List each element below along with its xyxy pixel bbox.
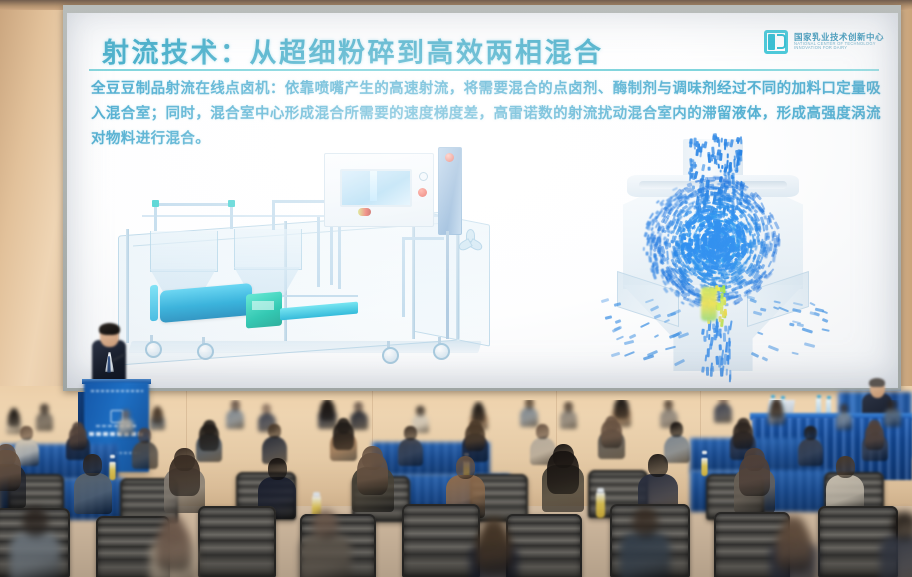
velocity-vector <box>802 327 813 333</box>
audience-chair <box>198 506 276 577</box>
velocity-vector <box>724 139 727 146</box>
velocity-vector <box>804 343 815 348</box>
velocity-vector <box>683 242 687 245</box>
audience-hair <box>739 455 770 496</box>
audience-torso <box>560 410 577 428</box>
velocity-vector <box>822 318 829 323</box>
velocity-vector <box>624 351 635 357</box>
velocity-vector <box>737 239 740 242</box>
audience-hair <box>199 424 219 451</box>
drink-bottle <box>109 462 115 480</box>
presentation-slide: 射流技术：从超细粉碎到高效两相混合 国家乳业技术创新中心 NATIONAL CE… <box>67 13 898 388</box>
audience-hair <box>601 420 621 448</box>
wall-panel-left <box>0 0 66 392</box>
drink-bottle <box>596 492 605 518</box>
velocity-vector <box>691 173 694 178</box>
dairy-innovation-logo-icon <box>764 30 788 54</box>
velocity-vector <box>673 247 677 256</box>
audience-torso <box>714 403 732 423</box>
valve-1 <box>152 200 159 207</box>
velocity-vector <box>720 287 723 292</box>
audience-hair <box>156 524 191 572</box>
velocity-vector <box>792 351 799 355</box>
velocity-vector <box>629 334 636 339</box>
velocity-vector <box>715 356 718 365</box>
audience-hair <box>169 455 200 496</box>
velocity-vector <box>713 324 716 330</box>
audience-area <box>0 400 912 577</box>
velocity-vector <box>744 236 747 242</box>
velocity-vector <box>703 336 706 342</box>
caster-wheel <box>382 347 399 364</box>
velocity-vector <box>718 153 722 161</box>
audience-hair <box>320 401 334 420</box>
audience-torso <box>118 418 134 436</box>
audience-head <box>648 454 668 477</box>
bottle-cap <box>597 488 604 493</box>
audience-head <box>83 454 102 476</box>
velocity-vector <box>731 173 735 179</box>
velocity-vector <box>760 307 767 311</box>
bottle-cap <box>313 492 320 497</box>
velocity-vector <box>821 310 827 314</box>
speaker-hair <box>99 323 120 335</box>
caster-wheel <box>197 343 214 360</box>
velocity-vector <box>725 180 731 184</box>
audience-head <box>138 428 151 443</box>
audience-hair <box>152 408 163 423</box>
audience-head <box>525 400 534 409</box>
audience-head <box>268 458 287 480</box>
audience-torso <box>620 533 670 577</box>
audience-hair <box>0 450 21 490</box>
velocity-vector <box>716 258 720 262</box>
velocity-vector <box>695 141 698 148</box>
audience-head <box>670 422 683 437</box>
velocity-vector <box>711 192 715 195</box>
audience-hair <box>69 426 87 450</box>
velocity-vector <box>797 323 804 327</box>
signal-tower-light <box>445 153 454 162</box>
velocity-vector <box>774 248 778 254</box>
audience-head <box>122 410 130 419</box>
machine-render-figure <box>112 145 512 377</box>
audience-torso <box>880 536 912 577</box>
velocity-vector <box>739 136 742 144</box>
velocity-vector <box>616 336 624 341</box>
velocity-vector <box>702 179 706 182</box>
audience-torso <box>132 441 158 469</box>
audience-head <box>536 424 549 439</box>
audience-hair <box>547 451 579 494</box>
velocity-vector <box>623 340 634 345</box>
velocity-vector <box>729 374 732 382</box>
bottle-cap <box>110 455 115 459</box>
audience-torso <box>74 473 112 514</box>
audience-torso <box>36 412 53 430</box>
velocity-vector <box>778 233 780 241</box>
conference-photo-scene: 射流技术：从超细粉碎到高效两相混合 国家乳业技术创新中心 NATIONAL CE… <box>0 0 912 577</box>
audience-hair <box>333 422 353 450</box>
audience-head <box>804 426 816 440</box>
velocity-vector <box>788 323 794 327</box>
audience-torso <box>300 535 351 577</box>
audience-hair <box>776 524 812 573</box>
title-divider <box>89 69 879 71</box>
logo-name-en-2: INNOVATION FOR DAIRY <box>794 46 884 50</box>
velocity-vector <box>724 308 727 315</box>
cfd-simulation-figure <box>567 131 857 379</box>
audience-torso <box>836 412 852 430</box>
velocity-vector <box>653 334 659 338</box>
velocity-vector <box>643 354 654 360</box>
audience-torso <box>398 438 423 465</box>
audience-hair <box>770 401 783 418</box>
audience-head <box>23 508 48 537</box>
velocity-vector <box>711 147 715 155</box>
audience-head <box>231 400 240 411</box>
audience-head <box>564 402 572 412</box>
audience-head <box>888 400 896 410</box>
velocity-vector <box>640 322 650 328</box>
audience-torso <box>10 533 60 577</box>
velocity-vector <box>601 298 610 303</box>
velocity-vector <box>695 242 699 249</box>
audience-head <box>404 426 416 440</box>
velocity-vector <box>762 357 768 362</box>
velocity-vector <box>727 142 731 146</box>
audience-hair <box>357 453 388 495</box>
velocity-vector <box>714 211 717 214</box>
audience-chair <box>402 504 480 577</box>
velocity-vector <box>810 302 816 306</box>
body-line-1: 全豆豆制品射流在线点卤机：依靠喷嘴产生的高速射流，将需要混合的点卤剂、酶制剂与调… <box>91 81 792 97</box>
audience-head <box>40 404 48 414</box>
audience-head <box>354 402 363 412</box>
velocity-vector <box>701 367 705 373</box>
velocity-vector <box>765 225 768 231</box>
selector-knob <box>419 172 428 181</box>
projection-screen: 射流技术：从超细粉碎到高效两相混合 国家乳业技术创新中心 NATIONAL CE… <box>67 13 898 388</box>
audience-torso <box>520 407 538 427</box>
caster-wheel <box>433 343 450 360</box>
audience-torso <box>226 409 244 429</box>
velocity-vector <box>822 328 830 332</box>
velocity-vector <box>713 133 718 142</box>
audience-head <box>836 456 855 478</box>
organization-logo: 国家乳业技术创新中心 NATIONAL CENTER OF TECHNOLOGY… <box>764 30 884 54</box>
audience-head <box>664 400 673 410</box>
audience-head <box>892 512 912 540</box>
valve-2 <box>228 200 235 207</box>
emergency-stop-button <box>418 188 427 197</box>
velocity-vector <box>728 349 730 360</box>
audience-head <box>20 426 32 440</box>
velocity-vector <box>719 316 722 322</box>
velocity-vector <box>648 255 651 262</box>
velocity-vector <box>768 345 779 352</box>
audience-torso <box>884 408 901 426</box>
velocity-vector <box>720 299 723 307</box>
audience-hair <box>8 411 20 427</box>
audience-head <box>456 456 476 479</box>
velocity-vector <box>611 351 621 356</box>
velocity-vector <box>615 319 622 324</box>
audience-head <box>719 400 728 405</box>
audience-hair <box>465 424 485 451</box>
velocity-vector <box>703 190 707 192</box>
audience-head <box>262 404 271 414</box>
audience-hair <box>614 400 628 419</box>
audience-torso <box>798 438 823 465</box>
bottle-cap <box>702 451 707 455</box>
indicator-button <box>358 208 371 216</box>
audience-head <box>633 508 658 537</box>
velocity-vector <box>688 242 691 247</box>
caster-wheel <box>145 341 162 358</box>
velocity-vector <box>701 271 704 274</box>
velocity-vector <box>721 273 724 277</box>
audience-head <box>840 404 848 413</box>
velocity-vector <box>726 368 729 375</box>
audience-head <box>268 424 280 438</box>
velocity-vector <box>720 137 723 142</box>
audience-torso <box>664 435 690 463</box>
audience-hair <box>733 422 753 449</box>
audience-hair <box>476 526 512 575</box>
jet-nozzle-core <box>701 287 717 321</box>
velocity-vector <box>605 315 613 320</box>
slide-title: 射流技术：从超细粉碎到高效两相混合 <box>102 31 742 70</box>
audience-head <box>313 510 339 539</box>
handwheel-icon <box>457 229 483 251</box>
pump-head <box>246 291 282 328</box>
drink-bottle <box>701 458 707 476</box>
audience-head <box>416 406 424 416</box>
audience-hair <box>865 424 884 450</box>
velocity-vector <box>757 331 764 335</box>
